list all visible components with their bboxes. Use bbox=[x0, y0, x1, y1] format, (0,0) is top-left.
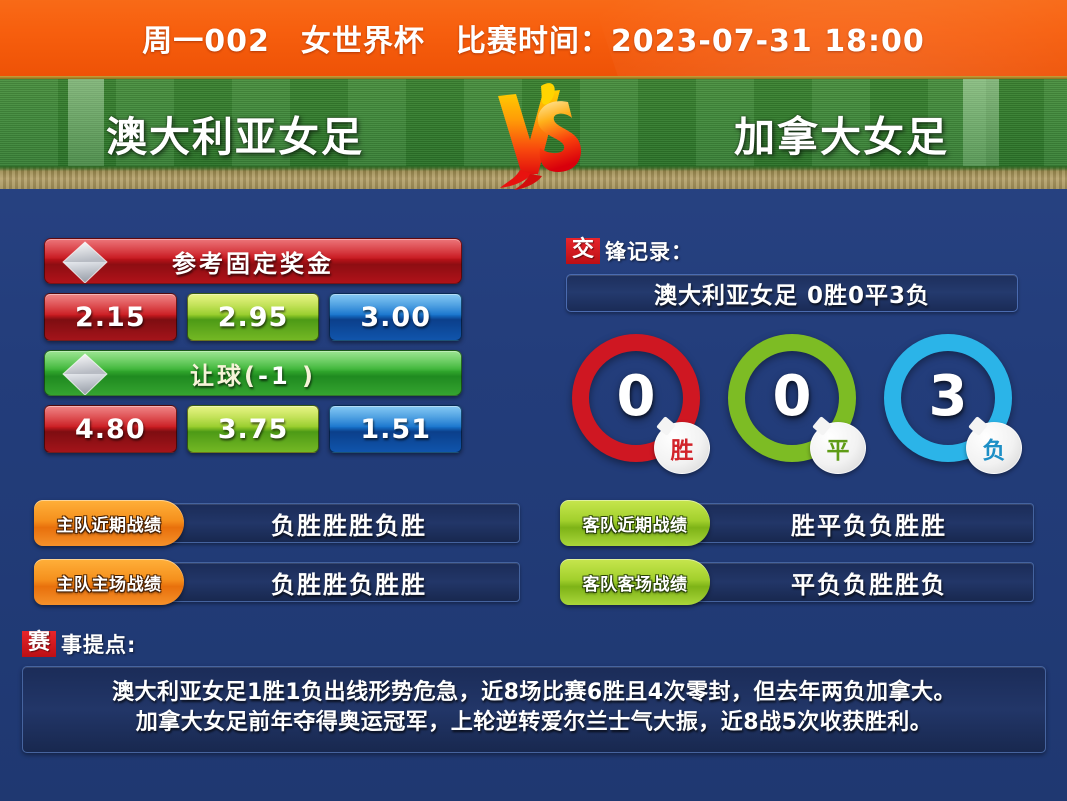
away-recent-form-track: 胜平负负胜胜 bbox=[664, 503, 1034, 543]
home-home-form-track: 负胜胜负胜胜 bbox=[138, 562, 520, 602]
fixed-odd-loss-value: 3.00 bbox=[360, 302, 431, 333]
win-count: 0 bbox=[617, 369, 656, 425]
handicap-title: 让球(-1 ) bbox=[190, 356, 316, 391]
fixed-odds-row: 2.15 2.95 3.00 bbox=[44, 293, 462, 341]
away-away-form-track: 平负负胜胜负 bbox=[664, 562, 1034, 602]
away-form-group: 胜平负负胜胜 客队近期战绩 平负负胜胜负 客队客场战绩 bbox=[560, 500, 1034, 618]
notes-line-1: 澳大利亚女足1胜1负出线形势危急，近8场比赛6胜且4次零封，但去年两负加拿大。 bbox=[39, 678, 1029, 708]
home-recent-form-row: 负胜胜胜负胜 主队近期战绩 bbox=[34, 500, 520, 546]
notes-line-2: 加拿大女足前年夺得奥运冠军，上轮逆转爱尔兰士气大振，近8战5次收获胜利。 bbox=[39, 708, 1029, 738]
home-team-name: 澳大利亚女足 bbox=[106, 98, 364, 168]
vs-flame-icon bbox=[480, 78, 590, 190]
h2h-stat-loss: 3 负 bbox=[884, 334, 1012, 462]
match-notes-panel: 赛 事提点: 澳大利亚女足1胜1负出线形势危急，近8场比赛6胜且4次零封，但去年… bbox=[22, 628, 1046, 753]
handicap-title-bar: 让球(-1 ) bbox=[44, 350, 462, 396]
away-team-name: 加拿大女足 bbox=[734, 98, 949, 168]
loss-badge: 负 bbox=[966, 422, 1022, 474]
handicap-odd-loss-value: 1.51 bbox=[360, 414, 431, 445]
home-recent-form-value: 负胜胜胜负胜 bbox=[231, 506, 427, 541]
home-recent-form-tab: 主队近期战绩 bbox=[34, 500, 184, 546]
home-home-form-tab: 主队主场战绩 bbox=[34, 559, 184, 605]
diamond-icon bbox=[59, 238, 111, 284]
fixed-odds-title: 参考固定奖金 bbox=[172, 244, 334, 279]
odds-panel: 参考固定奖金 2.15 2.95 3.00 让球(-1 ) bbox=[44, 238, 462, 462]
header-title: 周一002 女世界杯 比赛时间：2023-07-31 18:00 bbox=[0, 0, 1067, 76]
notes-title-rest: 事提点: bbox=[61, 629, 136, 659]
loss-count: 3 bbox=[929, 369, 968, 425]
notes-section-title: 赛 事提点: bbox=[22, 628, 1046, 660]
h2h-stat-draw: 0 平 bbox=[728, 334, 856, 462]
away-recent-form-row: 胜平负负胜胜 客队近期战绩 bbox=[560, 500, 1034, 546]
win-badge: 胜 bbox=[654, 422, 710, 474]
header-bar: 周一002 女世界杯 比赛时间：2023-07-31 18:00 bbox=[0, 0, 1067, 76]
h2h-stat-win: 0 胜 bbox=[572, 334, 700, 462]
h2h-summary-bar: 澳大利亚女足 0胜0平3负 bbox=[566, 274, 1018, 312]
h2h-tag: 交 bbox=[566, 238, 600, 264]
draw-count: 0 bbox=[773, 369, 812, 425]
handicap-title-suffix: ) bbox=[291, 362, 316, 390]
home-recent-form-track: 负胜胜胜负胜 bbox=[138, 503, 520, 543]
loss-label: 负 bbox=[983, 431, 1006, 465]
away-away-form-row: 平负负胜胜负 客队客场战绩 bbox=[560, 559, 1034, 605]
draw-badge: 平 bbox=[810, 422, 866, 474]
away-recent-form-tab: 客队近期战绩 bbox=[560, 500, 710, 546]
handicap-odds-row: 4.80 3.75 1.51 bbox=[44, 405, 462, 453]
away-recent-form-value: 胜平负负胜胜 bbox=[751, 506, 947, 541]
fixed-odd-loss[interactable]: 3.00 bbox=[329, 293, 462, 341]
pitch-stripe-right bbox=[963, 79, 999, 166]
home-form-group: 负胜胜胜负胜 主队近期战绩 负胜胜负胜胜 主队主场战绩 bbox=[34, 500, 520, 618]
notes-tag: 赛 bbox=[22, 631, 56, 657]
home-home-form-value: 负胜胜负胜胜 bbox=[231, 565, 427, 600]
home-home-form-row: 负胜胜负胜胜 主队主场战绩 bbox=[34, 559, 520, 605]
handicap-odd-win[interactable]: 4.80 bbox=[44, 405, 177, 453]
handicap-title-prefix: 让球( bbox=[190, 362, 258, 390]
h2h-title-rest: 锋记录： bbox=[605, 236, 693, 266]
h2h-stat-circles: 0 胜 0 平 3 负 bbox=[566, 334, 1018, 462]
fixed-odd-win[interactable]: 2.15 bbox=[44, 293, 177, 341]
fixed-odd-draw-value: 2.95 bbox=[218, 302, 289, 333]
away-away-form-tab: 客队客场战绩 bbox=[560, 559, 710, 605]
diamond-icon bbox=[59, 350, 111, 396]
handicap-value: -1 bbox=[258, 362, 291, 390]
fixed-odd-draw[interactable]: 2.95 bbox=[187, 293, 320, 341]
handicap-odd-win-value: 4.80 bbox=[75, 414, 146, 445]
fixed-odd-win-value: 2.15 bbox=[75, 302, 146, 333]
handicap-odd-draw-value: 3.75 bbox=[218, 414, 289, 445]
handicap-odd-loss[interactable]: 1.51 bbox=[329, 405, 462, 453]
h2h-section-title: 交 锋记录： bbox=[566, 236, 1018, 266]
draw-label: 平 bbox=[827, 431, 850, 465]
pitch-stripe-left bbox=[68, 79, 104, 166]
match-preview-card: 周一002 女世界杯 比赛时间：2023-07-31 18:00 澳大利亚女足 … bbox=[0, 0, 1067, 801]
away-away-form-value: 平负负胜胜负 bbox=[751, 565, 947, 600]
notes-box: 澳大利亚女足1胜1负出线形势危急，近8场比赛6胜且4次零封，但去年两负加拿大。 … bbox=[22, 666, 1046, 753]
head-to-head-panel: 交 锋记录： 澳大利亚女足 0胜0平3负 0 胜 0 平 bbox=[566, 236, 1018, 462]
win-label: 胜 bbox=[671, 431, 694, 465]
fixed-odds-title-bar: 参考固定奖金 bbox=[44, 238, 462, 284]
handicap-odd-draw[interactable]: 3.75 bbox=[187, 405, 320, 453]
